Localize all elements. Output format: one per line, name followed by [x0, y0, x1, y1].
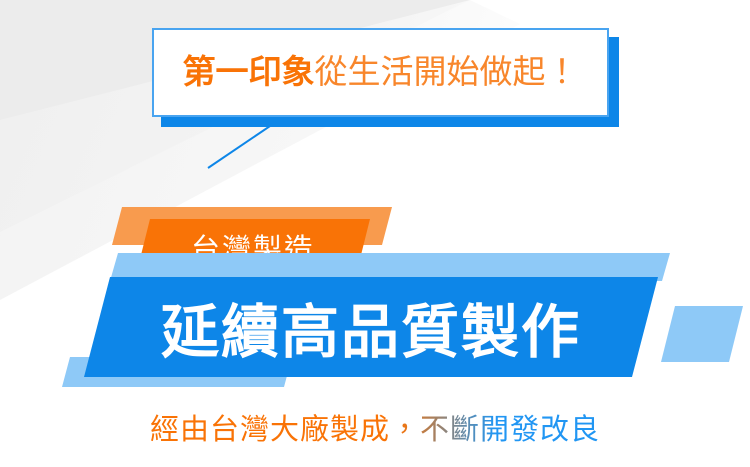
speech-bubble: 第一印象從生活開始做起！ [152, 28, 609, 117]
blue-banner-headline: 延續高品質製作 [84, 277, 658, 377]
promo-banner-stage: 第一印象從生活開始做起！ 台灣製造 延續高品質製作 經由台灣大廠製成，不斷開發改… [0, 0, 750, 467]
accent-bar-right [661, 306, 743, 362]
speech-bubble-text: 第一印象從生活開始做起！ [183, 55, 579, 88]
speech-bubble-text-emphasis: 第一印象 [183, 53, 315, 90]
speech-bubble-text-rest: 從生活開始做起！ [315, 53, 579, 90]
caption-text: 經由台灣大廠製成，不斷開發改良 [0, 406, 750, 448]
